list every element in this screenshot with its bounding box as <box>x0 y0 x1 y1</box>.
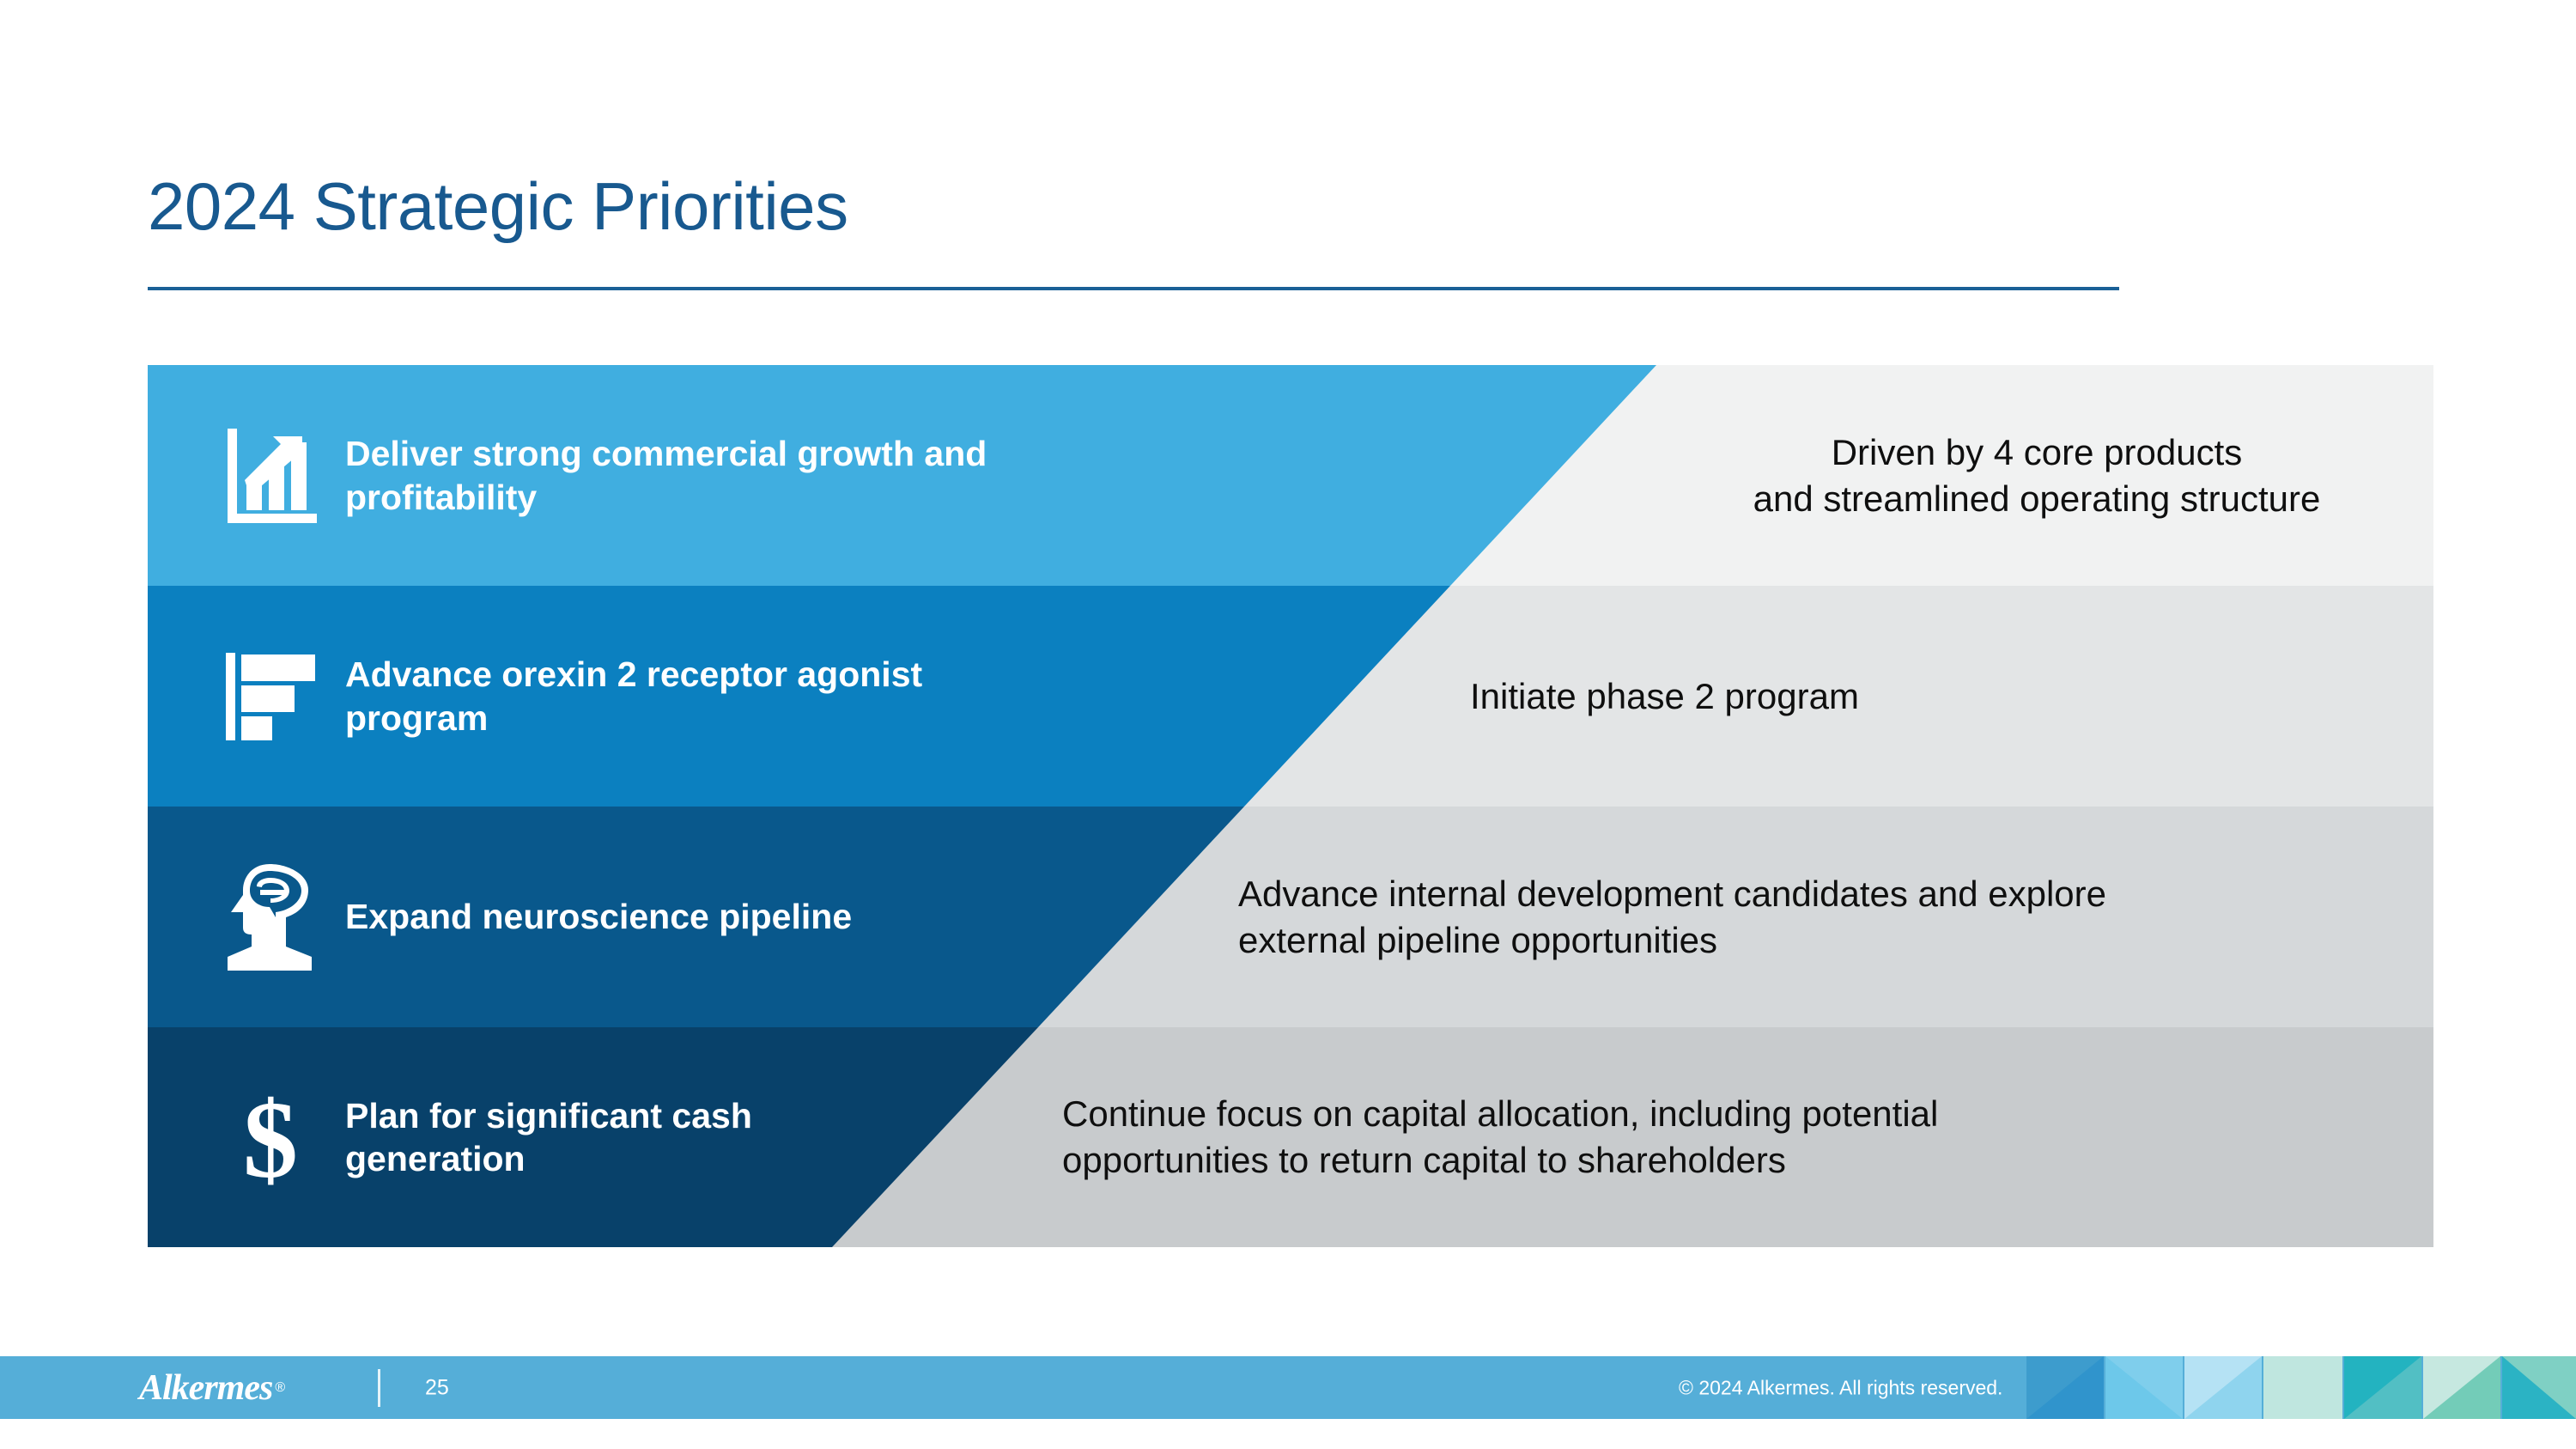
row-left-label: Deliver strong commercial growth and pro… <box>345 432 1058 518</box>
row-left-content: Expand neuroscience pipeline <box>148 807 852 1027</box>
priority-row: $ Plan for significant cash generation C… <box>148 1027 2433 1247</box>
row-right-text-line1: Driven by 4 core products <box>1753 429 2321 476</box>
logo-wordmark: Alkermes <box>139 1367 272 1409</box>
row-right-text-line1: Continue focus on capital allocation, in… <box>1062 1091 1938 1137</box>
bar-chart-growth-icon <box>195 429 345 523</box>
dollar-sign-icon: $ <box>195 1084 345 1190</box>
priority-row: Expand neuroscience pipeline Advance int… <box>148 807 2433 1027</box>
head-brain-spine-icon <box>195 864 345 971</box>
row-left-content: Advance orexin 2 receptor agonist progra… <box>148 586 929 807</box>
page-title: 2024 Strategic Priorities <box>148 172 2432 242</box>
row-right-text-line1: Advance internal development candidates … <box>1238 871 2106 917</box>
horizontal-bars-icon <box>195 653 345 740</box>
row-right-content: Advance internal development candidates … <box>1238 807 2354 1027</box>
row-right-text-line1: Initiate phase 2 program <box>1470 673 1859 720</box>
row-left-label: Plan for significant cash generation <box>345 1094 757 1180</box>
row-left-content: Deliver strong commercial growth and pro… <box>148 365 1058 586</box>
row-right-text-line2: external pipeline opportunities <box>1238 917 2106 964</box>
registered-trademark-icon: ® <box>275 1380 285 1396</box>
footer-divider <box>378 1369 380 1407</box>
footer-triangle-decoration <box>2026 1356 2576 1419</box>
slide-footer: Alkermes ® 25 © 2024 Alkermes. All right… <box>0 1356 2576 1419</box>
alkermes-logo: Alkermes ® <box>139 1367 285 1409</box>
page-number: 25 <box>425 1375 449 1400</box>
row-right-text-line2: opportunities to return capital to share… <box>1062 1137 1938 1184</box>
row-right-text-line2: and streamlined operating structure <box>1753 476 2321 522</box>
title-underline-rule <box>148 287 2119 290</box>
row-right-content: Continue focus on capital allocation, in… <box>1062 1027 2178 1247</box>
slide-canvas: 2024 Strategic Priorities Deliver strong… <box>0 0 2576 1449</box>
row-left-label: Advance orexin 2 receptor agonist progra… <box>345 653 929 739</box>
copyright-notice: © 2024 Alkermes. All rights reserved. <box>1679 1376 2002 1399</box>
svg-text:$: $ <box>243 1084 298 1190</box>
row-left-label: Expand neuroscience pipeline <box>345 895 852 938</box>
priority-row: Deliver strong commercial growth and pro… <box>148 365 2433 586</box>
row-left-content: $ Plan for significant cash generation <box>148 1027 757 1247</box>
priority-row: Advance orexin 2 receptor agonist progra… <box>148 586 2433 807</box>
row-right-content: Driven by 4 core products and streamline… <box>1685 365 2389 586</box>
title-block: 2024 Strategic Priorities <box>148 172 2432 242</box>
priorities-panel: Deliver strong commercial growth and pro… <box>148 365 2433 1247</box>
row-right-content: Initiate phase 2 program <box>1470 586 2312 807</box>
